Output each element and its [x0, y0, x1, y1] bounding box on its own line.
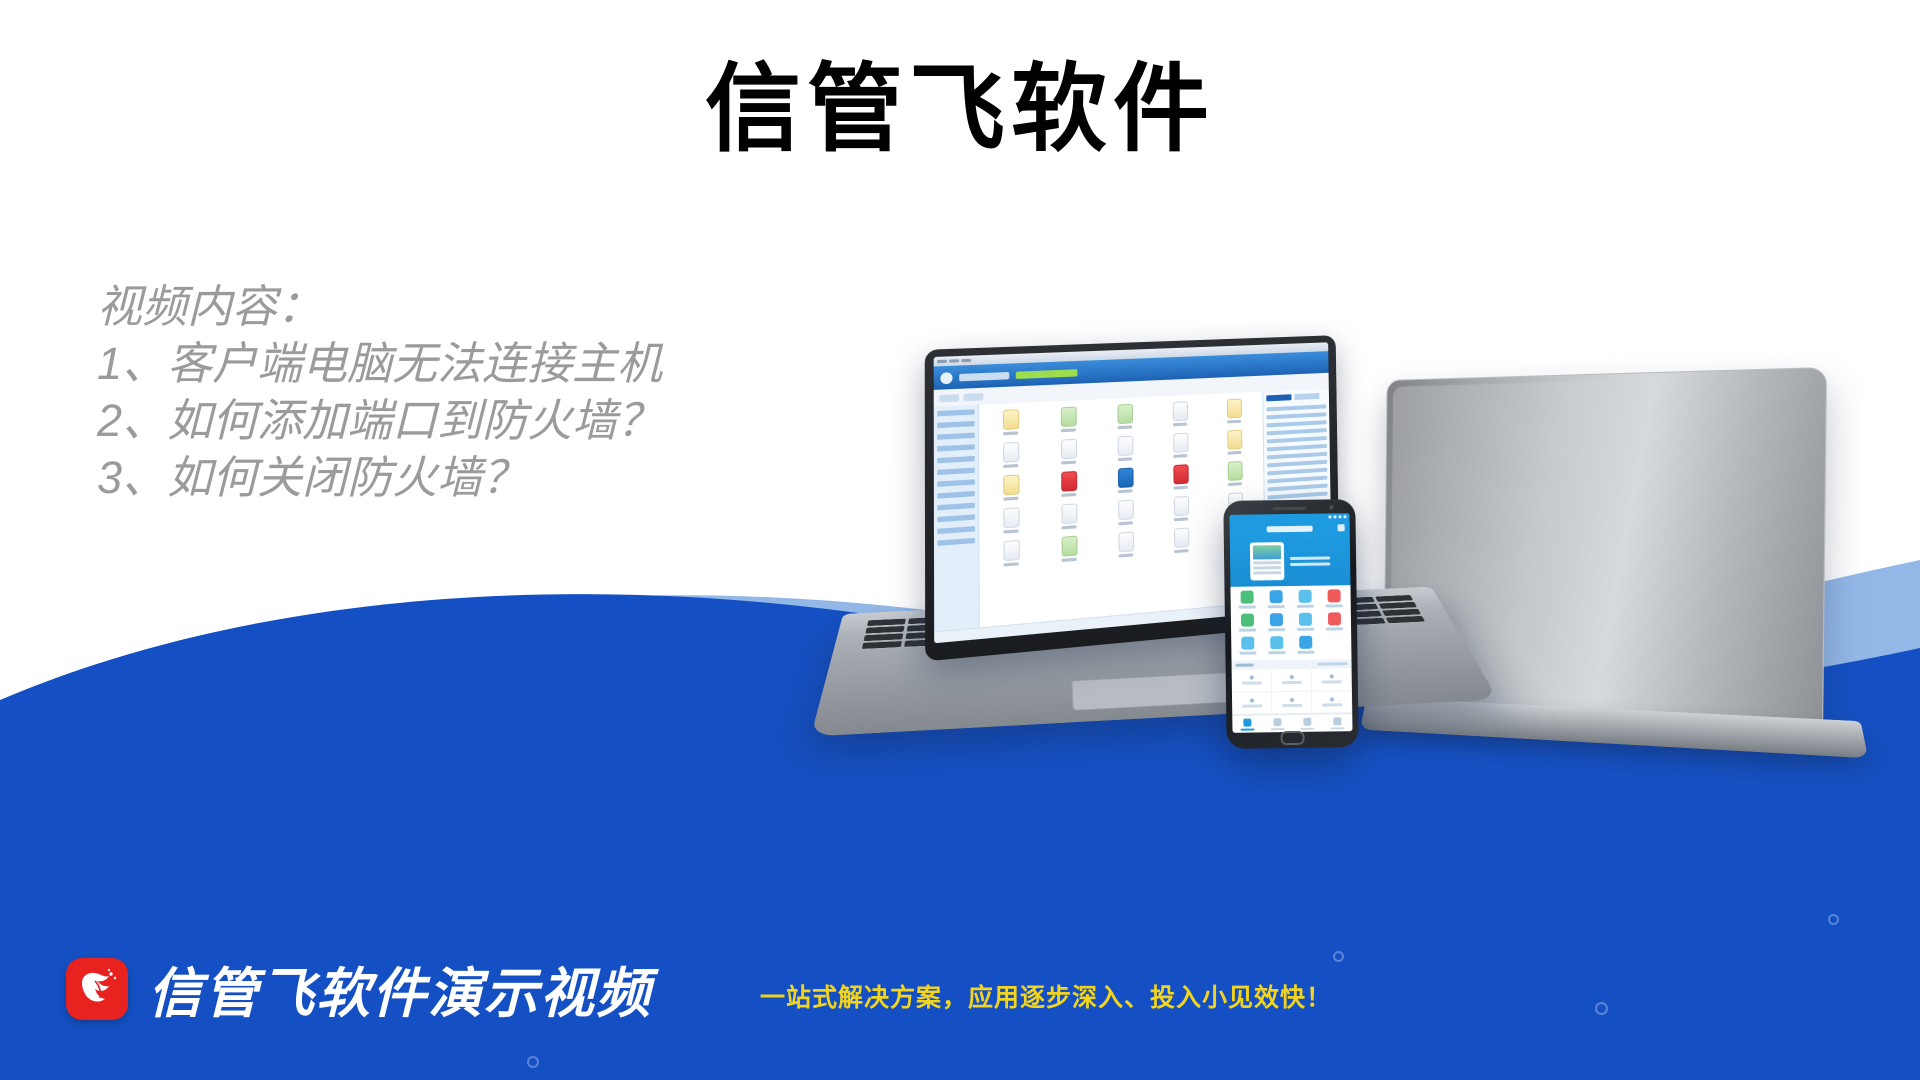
list-item: 3、如何关闭防火墙？	[97, 449, 662, 506]
phone-app-icon	[1292, 613, 1319, 631]
app-icon	[1154, 400, 1205, 427]
tab-workspace	[1262, 715, 1292, 732]
app-icon	[984, 539, 1038, 569]
tree-item	[1267, 452, 1327, 460]
menu-item	[949, 359, 959, 363]
right-panel-tabs	[1266, 393, 1326, 402]
tree-item	[1267, 420, 1327, 427]
tree-item	[1267, 428, 1327, 435]
stat-cell	[1272, 669, 1312, 692]
phone-app-header	[1230, 520, 1350, 537]
app-logo-icon	[940, 372, 952, 384]
phone-app-icon	[1234, 636, 1261, 654]
key	[1383, 609, 1421, 616]
tree-item	[1267, 436, 1327, 443]
phone-app-icon	[1234, 590, 1261, 608]
stat-cell	[1272, 691, 1312, 714]
footer-bar: 信管飞软件演示视频 一站式解决方案，应用逐步深入、投入小见效快！	[0, 940, 1920, 1080]
phone-app-icon	[1263, 613, 1290, 631]
decorative-ring	[1333, 951, 1344, 962]
app-ribbon-text	[959, 371, 1009, 380]
app-icon	[1155, 463, 1206, 491]
video-content-list: 视频内容： 1、客户端电脑无法连接主机 2、如何添加端口到防火墙？ 3、如何关闭…	[97, 278, 662, 506]
sidebar-item	[937, 433, 975, 440]
list-item-label: 客户端电脑无法连接主机	[167, 338, 662, 389]
phone-app-title	[1267, 525, 1313, 532]
laptop-trackpad	[1071, 672, 1247, 711]
list-item-number: 3、	[97, 449, 167, 506]
app-icon	[1099, 435, 1151, 463]
toolbar-button	[939, 394, 959, 402]
sidebar-item	[937, 468, 975, 476]
phone-stats-grid	[1232, 668, 1353, 715]
dove-flame-icon	[73, 965, 121, 1013]
key	[865, 626, 904, 634]
app-icon	[1099, 498, 1151, 526]
app-icon	[1099, 403, 1151, 430]
list-item: 2、如何添加端口到防火墙？	[97, 392, 662, 449]
section-title	[1236, 664, 1254, 667]
tree-item	[1266, 404, 1326, 411]
tree-item	[1267, 476, 1327, 484]
stat-cell	[1312, 668, 1352, 691]
app-icon	[1042, 406, 1095, 434]
phone-app-icon	[1263, 590, 1290, 608]
phone-screen-content	[1229, 513, 1352, 733]
phone-app-icon	[1234, 613, 1261, 631]
sidebar-item	[937, 514, 975, 522]
menu-item	[937, 360, 947, 364]
app-icon	[1042, 438, 1095, 466]
banner-card-image	[1250, 542, 1285, 580]
tab-active	[1266, 394, 1291, 401]
key	[864, 633, 903, 641]
tab-home	[1232, 715, 1262, 732]
list-item-label: 如何关闭防火墙？	[167, 452, 527, 503]
app-ribbon-highlight	[1016, 369, 1078, 379]
tree-item	[1267, 484, 1327, 492]
app-icon	[984, 473, 1038, 502]
page-title: 信管飞软件	[0, 55, 1920, 165]
banner-text	[1290, 556, 1330, 566]
toolbar-button	[964, 393, 984, 401]
sidebar-item	[937, 491, 975, 499]
signal-icon	[1338, 515, 1341, 518]
tree-item	[1267, 460, 1327, 468]
app-icon	[1209, 398, 1259, 425]
app-icon-grid	[983, 398, 1260, 568]
list-item-number: 2、	[97, 392, 167, 449]
phone-app-icon	[1292, 636, 1319, 654]
stat-cell	[1312, 691, 1352, 714]
app-icon	[984, 506, 1038, 535]
app-icon	[1155, 432, 1206, 459]
tree-item	[1267, 412, 1327, 419]
phone-camera-icon	[1329, 505, 1333, 509]
decorative-ring	[1828, 914, 1839, 925]
list-item-label: 如何添加端口到防火墙？	[167, 395, 662, 446]
phone-banner	[1230, 535, 1351, 587]
app-icon	[1210, 460, 1260, 487]
phone-app-icon	[1321, 612, 1348, 630]
phone-app-icon	[1263, 636, 1290, 654]
app-sidebar	[934, 405, 980, 633]
app-icon	[1100, 530, 1152, 559]
decorative-ring	[1595, 1002, 1608, 1015]
sidebar-item	[937, 526, 975, 534]
sidebar-item	[937, 479, 975, 487]
sidebar-item	[937, 409, 975, 416]
app-icon	[1155, 495, 1206, 523]
app-icon	[1156, 526, 1207, 554]
phone-app-icon	[1321, 589, 1348, 607]
tree-item	[1267, 444, 1327, 451]
app-icon	[1042, 502, 1095, 531]
app-icon	[1099, 466, 1151, 494]
sidebar-item	[937, 421, 975, 428]
tab-profile	[1322, 714, 1352, 731]
bluetooth-icon	[1328, 515, 1331, 518]
menu-item	[961, 359, 971, 363]
app-icon	[1042, 470, 1095, 498]
key	[862, 641, 902, 649]
stat-cell	[1232, 692, 1272, 715]
key	[1376, 595, 1414, 602]
presentation-slide: 信管飞软件 视频内容： 1、客户端电脑无法连接主机 2、如何添加端口到防火墙？ …	[0, 0, 1920, 1080]
sidebar-item	[937, 456, 975, 463]
decorative-ring	[527, 1056, 539, 1068]
video-content-heading: 视频内容：	[97, 278, 662, 335]
phone-speaker	[1272, 507, 1306, 510]
stat-cell	[1232, 669, 1272, 692]
smartphone-image	[1223, 499, 1358, 749]
phone-app-icon	[1292, 590, 1319, 608]
key	[1379, 602, 1417, 609]
phone-tabbar	[1232, 713, 1352, 733]
hamburger-menu-icon	[1338, 524, 1345, 531]
brand-logo	[66, 958, 128, 1020]
tree-item	[1267, 468, 1327, 476]
phone-home-button	[1280, 731, 1304, 745]
sidebar-item	[937, 444, 975, 451]
sidebar-item	[937, 503, 975, 511]
tree-item	[1268, 491, 1328, 499]
app-main-panel	[979, 392, 1265, 629]
list-item-number: 1、	[97, 335, 167, 392]
battery-icon	[1343, 515, 1346, 518]
brand-lockup: 信管飞软件演示视频	[66, 949, 652, 1028]
tab-reports	[1292, 715, 1322, 732]
sidebar-item	[937, 538, 975, 546]
device-mockup-cluster	[880, 380, 1920, 940]
section-filters	[1318, 662, 1348, 665]
list-item: 1、客户端电脑无法连接主机	[97, 335, 662, 392]
app-icon	[983, 441, 1037, 469]
brand-name: 信管飞软件演示视频	[148, 949, 652, 1028]
phone-icon-grid	[1230, 585, 1351, 659]
key	[867, 619, 905, 626]
wifi-icon	[1333, 515, 1336, 518]
app-icon	[1209, 429, 1259, 456]
app-icon	[1042, 534, 1095, 563]
key	[1386, 616, 1425, 623]
phone-app-icon	[1321, 635, 1348, 653]
brand-tagline: 一站式解决方案，应用逐步深入、投入小见效快！	[760, 978, 1332, 1014]
tab-inactive	[1294, 393, 1319, 400]
app-icon	[983, 408, 1037, 436]
